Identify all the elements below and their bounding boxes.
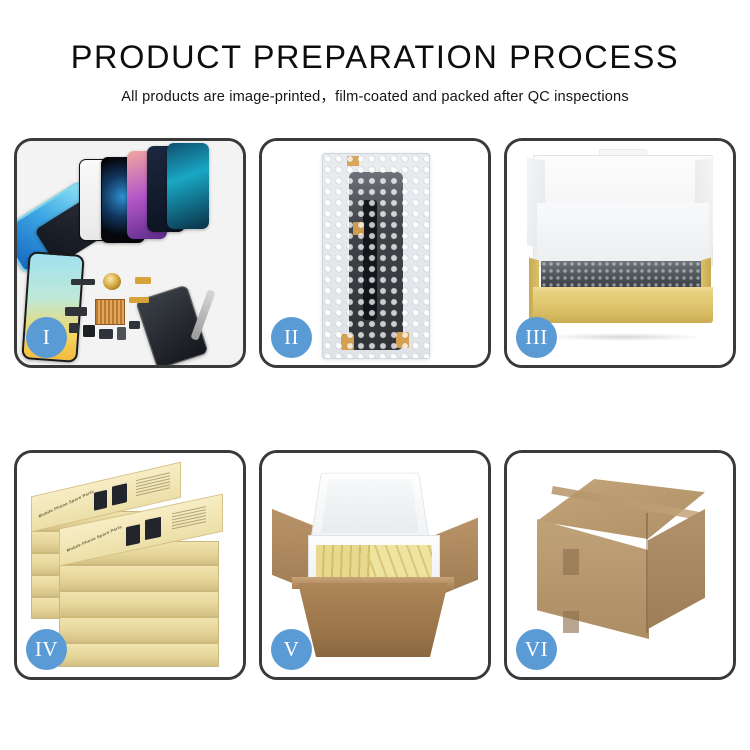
tape-piece-top bbox=[347, 156, 359, 166]
process-step-grid: I II bbox=[14, 138, 736, 690]
box-label-phone-image-a bbox=[94, 490, 107, 511]
foam-box-lid bbox=[310, 473, 430, 542]
box-drop-shadow bbox=[541, 333, 705, 341]
carton-vertical-edge bbox=[646, 513, 648, 633]
box-label-spec-lines-rear bbox=[136, 472, 170, 498]
step-badge-1: I bbox=[26, 317, 67, 358]
part-button-small bbox=[69, 323, 79, 333]
tape-piece-bottom-right bbox=[396, 332, 409, 348]
step-badge-2: II bbox=[271, 317, 312, 358]
part-flex-cable-b bbox=[129, 297, 149, 303]
carton-body bbox=[298, 583, 448, 657]
box-label-text-rear: Mobile Phone Spare Parts bbox=[38, 489, 94, 519]
box-label-phone-image-c bbox=[126, 524, 140, 546]
carton-front-face bbox=[537, 519, 649, 639]
page-title: PRODUCT PREPARATION PROCESS bbox=[0, 40, 750, 74]
box-label-phone-image-b bbox=[112, 483, 127, 505]
carton-tape-lower bbox=[563, 611, 579, 633]
part-connector-strip bbox=[71, 279, 95, 285]
tape-piece-bottom-left bbox=[341, 334, 354, 350]
process-step-panel-3: III bbox=[504, 138, 736, 368]
photo-stacked-kraft-boxes: Mobile Phone Spare Parts Mobile Phone Sp… bbox=[17, 453, 243, 677]
part-camera-module bbox=[65, 307, 87, 316]
step-badge-4: IV bbox=[26, 629, 67, 670]
logic-board-component bbox=[95, 299, 125, 325]
photo-phone-screens-and-spare-parts: I bbox=[17, 141, 243, 365]
wrapped-flex-strip bbox=[363, 200, 377, 320]
phone-teal-display bbox=[167, 143, 209, 229]
box-foam-lining bbox=[537, 203, 709, 265]
part-vibrator bbox=[83, 325, 95, 337]
header: PRODUCT PREPARATION PROCESS All products… bbox=[0, 0, 750, 106]
stacked-box-front-3 bbox=[59, 591, 219, 617]
carton-tape-upper bbox=[563, 549, 579, 575]
step-badge-5: V bbox=[271, 629, 312, 670]
process-step-panel-2: II bbox=[259, 138, 491, 368]
page-subtitle: All products are image-printed，film-coat… bbox=[0, 85, 750, 106]
process-step-panel-4: Mobile Phone Spare Parts Mobile Phone Sp… bbox=[14, 450, 246, 680]
part-sim-tray bbox=[117, 327, 126, 340]
step-badge-3: III bbox=[516, 317, 557, 358]
process-step-panel-6: VI bbox=[504, 450, 736, 680]
process-step-panel-1: I bbox=[14, 138, 246, 368]
box-yellow-base bbox=[533, 293, 713, 323]
part-flex-cable-a bbox=[135, 277, 151, 284]
bubble-wrap-bag bbox=[322, 153, 430, 359]
box-label-text-front: Mobile Phone Spare Parts bbox=[66, 524, 122, 553]
process-step-panel-5: V bbox=[259, 450, 491, 680]
stacked-box-front-2 bbox=[59, 565, 219, 591]
stacked-box-front-5 bbox=[59, 643, 219, 667]
box-label-phone-image-d bbox=[145, 517, 161, 540]
photo-carton-with-foam-box: V bbox=[262, 453, 488, 677]
part-sensor bbox=[99, 329, 113, 339]
photo-bubble-wrapped-part: II bbox=[262, 141, 488, 365]
tape-piece-middle bbox=[353, 222, 364, 235]
speaker-component bbox=[103, 273, 121, 290]
box-label-spec-lines-front bbox=[172, 506, 206, 531]
step-badge-6: VI bbox=[516, 629, 557, 670]
product-preparation-infographic: PRODUCT PREPARATION PROCESS All products… bbox=[0, 0, 750, 750]
photo-open-kraft-inner-box: III bbox=[507, 141, 733, 365]
part-antenna-clip bbox=[129, 321, 140, 329]
stacked-box-front-4 bbox=[59, 617, 219, 643]
foam-box-lid-inner bbox=[321, 479, 419, 533]
photo-sealed-shipping-carton: VI bbox=[507, 453, 733, 677]
